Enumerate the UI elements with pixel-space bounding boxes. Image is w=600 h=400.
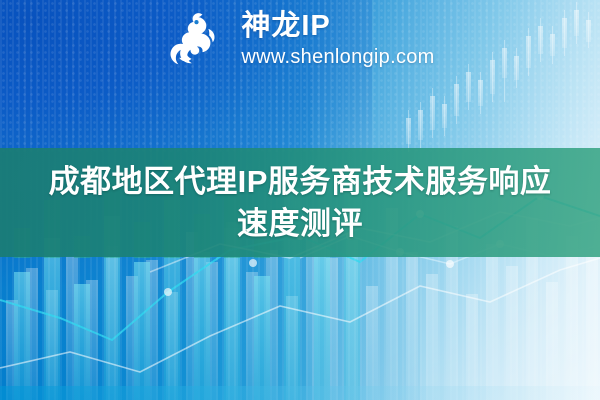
page-title-line-2: 速度测评 bbox=[237, 203, 363, 245]
dragon-logo-icon bbox=[165, 10, 227, 68]
brand-url: www.shenlongip.com bbox=[241, 47, 434, 67]
title-band: 成都地区代理IP服务商技术服务响应 速度测评 bbox=[0, 148, 600, 257]
banner-image: 神龙IP www.shenlongip.com 成都地区代理IP服务商技术服务响… bbox=[0, 0, 600, 400]
brand-header: 神龙IP www.shenlongip.com bbox=[0, 0, 600, 78]
bottom-accent-strip bbox=[0, 386, 600, 400]
brand-text-block: 神龙IP www.shenlongip.com bbox=[241, 12, 434, 67]
brand-name: 神龙IP bbox=[241, 12, 434, 41]
page-title-line-1: 成都地区代理IP服务商技术服务响应 bbox=[49, 161, 552, 203]
